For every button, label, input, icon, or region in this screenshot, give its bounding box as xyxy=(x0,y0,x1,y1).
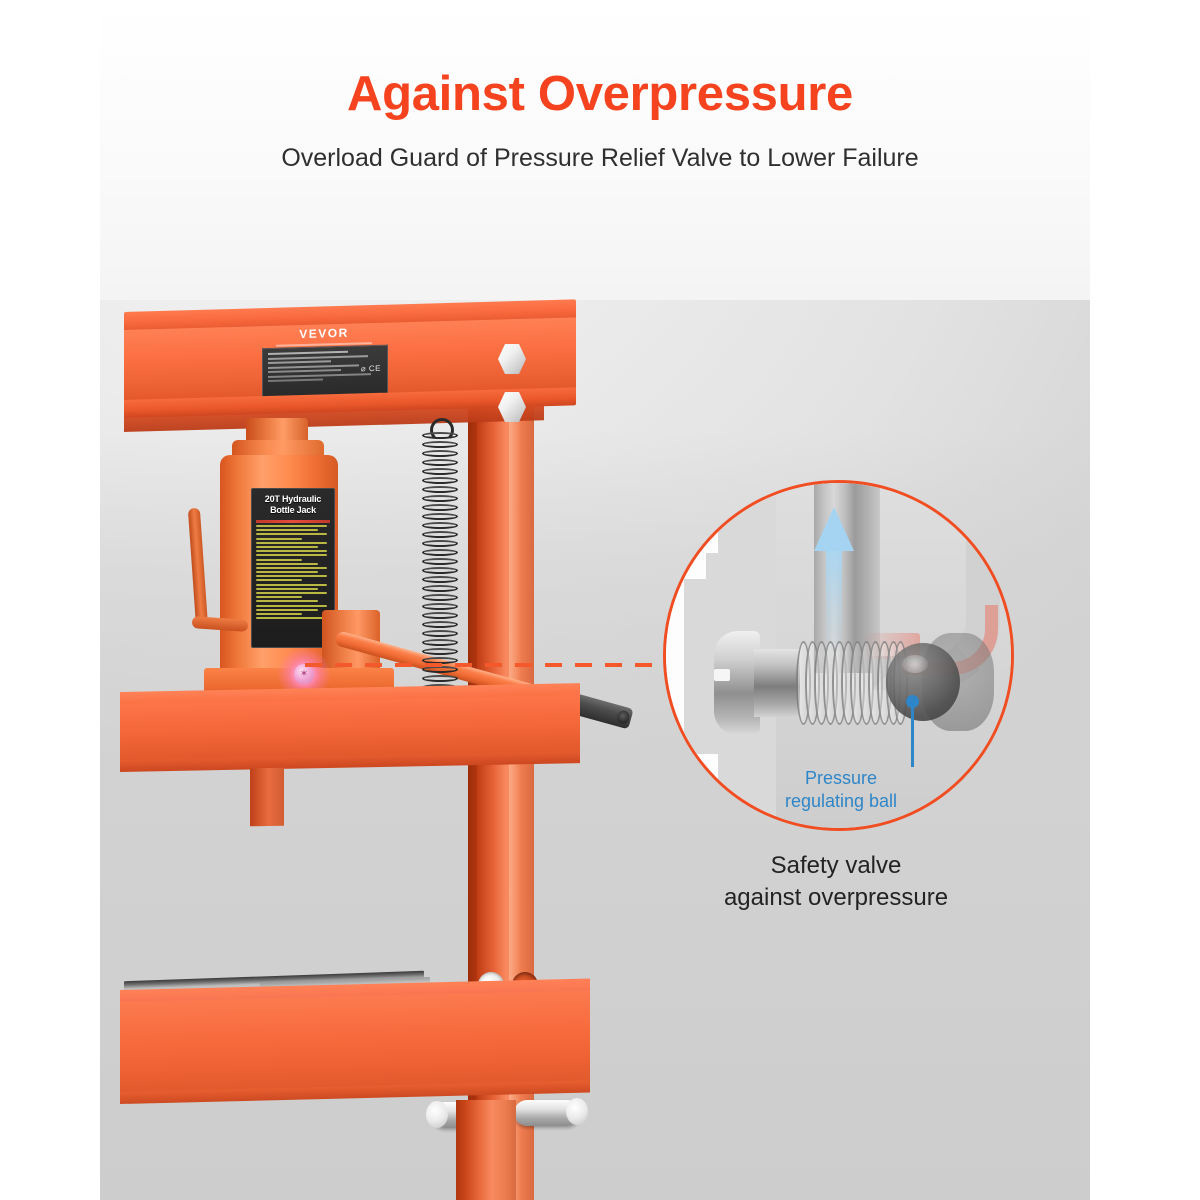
hydraulic-shop-press-photo: VEVOR ⌀ CE xyxy=(100,300,620,1200)
valve-body-step xyxy=(706,553,736,593)
jack-release-lever xyxy=(188,508,208,629)
ball-highlight xyxy=(902,655,928,673)
ball-label-line2: regulating ball xyxy=(785,791,897,811)
table-beam-web xyxy=(120,991,590,1094)
caption-line2: against overpressure xyxy=(724,884,948,911)
table-support-pin-cap xyxy=(566,1098,588,1125)
callout-caption: Safety valve against overpressure xyxy=(660,850,1012,914)
ce-marks-icon: ⌀ CE xyxy=(361,364,381,374)
pressure-regulating-ball xyxy=(886,643,960,721)
jack-label-title-line1: 20T Hydraulic xyxy=(265,494,321,504)
left-white-margin xyxy=(0,0,100,1200)
handle-end-cap xyxy=(616,709,631,725)
frame-column-bottom xyxy=(456,1100,516,1200)
spec-plate: ⌀ CE xyxy=(262,345,388,399)
table-support-pin-cap xyxy=(426,1101,448,1128)
ball-label-leader xyxy=(911,705,914,767)
jack-label-divider xyxy=(256,520,330,523)
adjusting-screw-slot xyxy=(714,669,730,681)
jack-release-lever-foot xyxy=(192,616,249,632)
page-subtitle: Overload Guard of Pressure Relief Valve … xyxy=(0,144,1200,173)
plunger-shaft xyxy=(754,649,800,717)
right-white-margin xyxy=(1090,0,1200,1200)
mid-beam-guide-block xyxy=(250,768,284,827)
product-feature-image: Against Overpressure Overload Guard of P… xyxy=(0,0,1200,1200)
valve-cutaway-callout: Pressure regulating ball xyxy=(663,480,1014,831)
caption-line1: Safety valve xyxy=(771,852,902,879)
callout-leader-line xyxy=(305,663,705,667)
jack-label-warning-text xyxy=(252,525,334,619)
return-spring xyxy=(422,432,458,700)
ball-label-line1: Pressure xyxy=(805,768,877,788)
ball-label: Pressure regulating ball xyxy=(736,767,946,813)
jack-label-title-line2: Bottle Jack xyxy=(270,505,316,515)
valve-star-icon: ✶ xyxy=(299,669,309,679)
page-title: Against Overpressure xyxy=(0,66,1200,122)
